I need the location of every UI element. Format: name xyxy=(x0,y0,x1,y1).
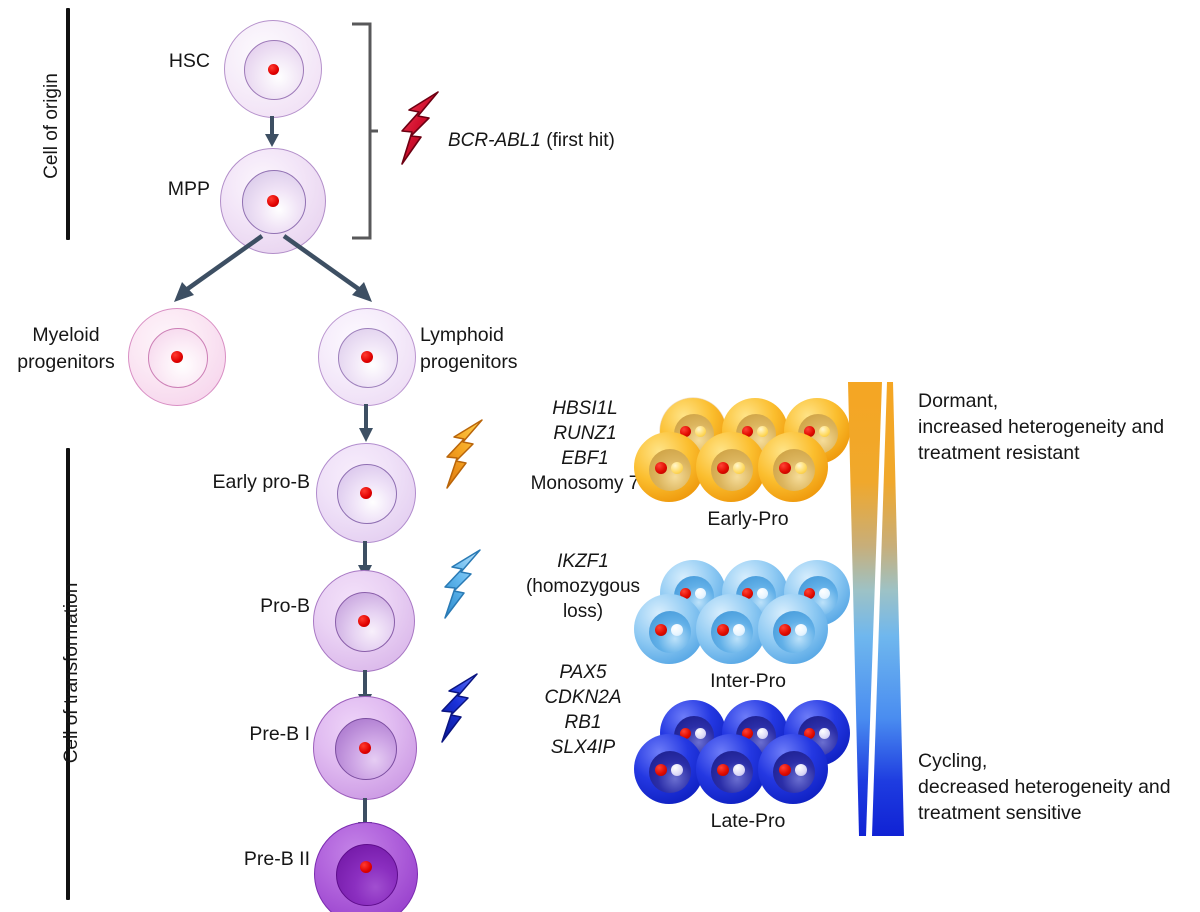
stage-label-hsc: HSC xyxy=(80,50,210,73)
cluster-label-inter-pro: Inter-Pro xyxy=(648,670,848,693)
cluster-cell-pale-dot xyxy=(757,728,768,739)
first-hit-bracket xyxy=(350,22,378,240)
third-hit-bolt-icon xyxy=(440,546,490,622)
annotation-dormant-line1: Dormant, xyxy=(918,388,1164,414)
fourth-hit-gene-3: RB1 xyxy=(497,710,669,735)
arrow-hsc-to-mpp xyxy=(258,116,286,148)
stage-label-mpp: MPP xyxy=(80,178,210,201)
lightning-bolt-red-svg xyxy=(396,88,450,168)
arrow-lymphoid-to-early-pro-b xyxy=(352,404,380,444)
nucleolus-pre-b-ii xyxy=(360,861,372,873)
nucleolus-myeloid xyxy=(171,351,183,363)
annotation-cycling: Cycling, decreased heterogeneity and tre… xyxy=(918,748,1171,826)
nucleus-pre-b-ii xyxy=(336,844,398,906)
stage-label-pre-b-ii: Pre-B II xyxy=(150,848,310,871)
annotation-dormant: Dormant, increased heterogeneity and tre… xyxy=(918,388,1164,466)
cluster-cell xyxy=(758,734,828,804)
cluster-cell-pale-dot xyxy=(695,728,706,739)
cluster-cell-red-dot xyxy=(779,462,791,474)
cluster-cell-red-dot xyxy=(717,462,729,474)
annotation-cycling-line2: decreased heterogeneity and xyxy=(918,774,1171,800)
first-hit-bolt-icon xyxy=(396,88,450,168)
cluster-cell-pale-dot xyxy=(795,764,807,776)
stage-label-lymphoid-progenitors: Lymphoid progenitors xyxy=(420,322,580,376)
cluster-cell-red-dot xyxy=(779,624,791,636)
third-hit-gene-2: (homozygous xyxy=(497,574,669,599)
cluster-cell-pale-dot xyxy=(757,426,768,437)
cluster-cell-pale-dot xyxy=(733,624,745,636)
cell-early-pro-b xyxy=(316,443,416,543)
cluster-cell-pale-dot xyxy=(795,624,807,636)
cluster-cell-red-dot xyxy=(655,462,667,474)
lightning-bolt-darkblue-svg xyxy=(437,670,487,746)
cluster-cell-red-dot xyxy=(717,624,729,636)
axis-label-cell-of-origin: Cell of origin xyxy=(41,26,63,226)
cluster-cell-red-dot xyxy=(717,764,729,776)
lymphoid-label-line2: progenitors xyxy=(420,349,580,376)
cluster-label-late-pro: Late-Pro xyxy=(648,810,848,833)
cell-myeloid-progenitor xyxy=(128,308,226,406)
annotation-cycling-line3: treatment sensitive xyxy=(918,800,1171,826)
figure-canvas: Cell of origin Cell of transformation HS… xyxy=(0,0,1200,912)
stage-label-early-pro-b: Early pro-B xyxy=(150,471,310,494)
cluster-cell xyxy=(758,594,828,664)
cluster-cell-pale-dot xyxy=(795,462,807,474)
cluster-cell xyxy=(634,432,704,502)
cluster-cell-pale-dot xyxy=(819,426,830,437)
fourth-hit-gene-2: CDKN2A xyxy=(497,685,669,710)
cluster-cell-pale-dot xyxy=(733,764,745,776)
cluster-cell-pale-dot xyxy=(757,588,768,599)
cluster-cell-pale-dot xyxy=(733,462,745,474)
lightning-bolt-lightblue-svg xyxy=(440,546,490,622)
cluster-cell xyxy=(758,432,828,502)
cluster-cell-red-dot xyxy=(779,764,791,776)
annotation-dormant-line3: treatment resistant xyxy=(918,440,1164,466)
cluster-late-pro: Late-Pro xyxy=(648,696,848,836)
cluster-cell xyxy=(696,432,766,502)
lightning-bolt-orange-svg xyxy=(442,416,492,492)
nucleolus-pre-b-i xyxy=(359,742,371,754)
first-hit-label: BCR-ABL1 (first hit) xyxy=(448,128,615,153)
cluster-cell xyxy=(634,734,704,804)
cluster-cell-pale-dot xyxy=(671,764,683,776)
arrow-mpp-to-lymphoid xyxy=(276,232,386,310)
cluster-cell-pale-dot xyxy=(671,462,683,474)
stage-label-pre-b-i: Pre-B I xyxy=(150,723,310,746)
cluster-cell-pale-dot xyxy=(819,728,830,739)
cluster-cell-red-dot xyxy=(655,624,667,636)
cluster-cell-pale-dot xyxy=(695,426,706,437)
cluster-cell xyxy=(696,594,766,664)
second-hit-gene-1: HBSI1L xyxy=(500,396,670,421)
cell-hsc xyxy=(224,20,322,118)
stage-label-pro-b: Pro-B xyxy=(150,595,310,618)
cluster-cell-pale-dot xyxy=(671,624,683,636)
cluster-inter-pro: Inter-Pro xyxy=(648,556,848,696)
lymphoid-label-line1: Lymphoid xyxy=(420,322,580,349)
cell-pre-b-ii xyxy=(314,822,418,912)
fourth-hit-gene-1: PAX5 xyxy=(497,660,669,685)
fourth-hit-bolt-icon-main xyxy=(437,670,487,746)
nucleolus-hsc xyxy=(268,64,279,75)
third-hit-gene-1: IKZF1 xyxy=(497,549,669,574)
cell-lymphoid-progenitor xyxy=(318,308,416,406)
first-hit-suffix: (first hit) xyxy=(541,130,615,151)
stage-label-myeloid-progenitors: Myeloid progenitors xyxy=(0,322,136,376)
myeloid-label-line2: progenitors xyxy=(0,349,136,376)
cluster-cell xyxy=(696,734,766,804)
axis-label-cell-of-transformation: Cell of transformation xyxy=(61,523,83,823)
cluster-early-pro: Early-Pro xyxy=(648,394,848,534)
cell-pro-b xyxy=(313,570,415,672)
myeloid-label-line1: Myeloid xyxy=(0,322,136,349)
axis-bar-cell-of-origin xyxy=(66,8,70,240)
bracket-svg xyxy=(350,22,378,240)
cluster-cell-red-dot xyxy=(655,764,667,776)
cluster-cell-pale-dot xyxy=(819,588,830,599)
second-hit-bolt-icon xyxy=(442,416,492,492)
arrow-mpp-to-myeloid xyxy=(160,232,270,310)
nucleolus-mpp xyxy=(267,195,279,207)
cluster-cell-pale-dot xyxy=(695,588,706,599)
nucleolus-pro-b xyxy=(358,615,370,627)
cluster-label-early-pro: Early-Pro xyxy=(648,508,848,531)
annotation-dormant-line2: increased heterogeneity and xyxy=(918,414,1164,440)
nucleolus-lymphoid xyxy=(361,351,373,363)
heterogeneity-gradient-scale xyxy=(846,380,908,838)
cluster-cell xyxy=(634,594,704,664)
first-hit-gene: BCR-ABL1 xyxy=(448,130,541,151)
nucleolus-early-pro-b xyxy=(360,487,372,499)
gradient-wedge-svg xyxy=(846,380,908,838)
annotation-cycling-line1: Cycling, xyxy=(918,748,1171,774)
cell-pre-b-i xyxy=(313,696,417,800)
